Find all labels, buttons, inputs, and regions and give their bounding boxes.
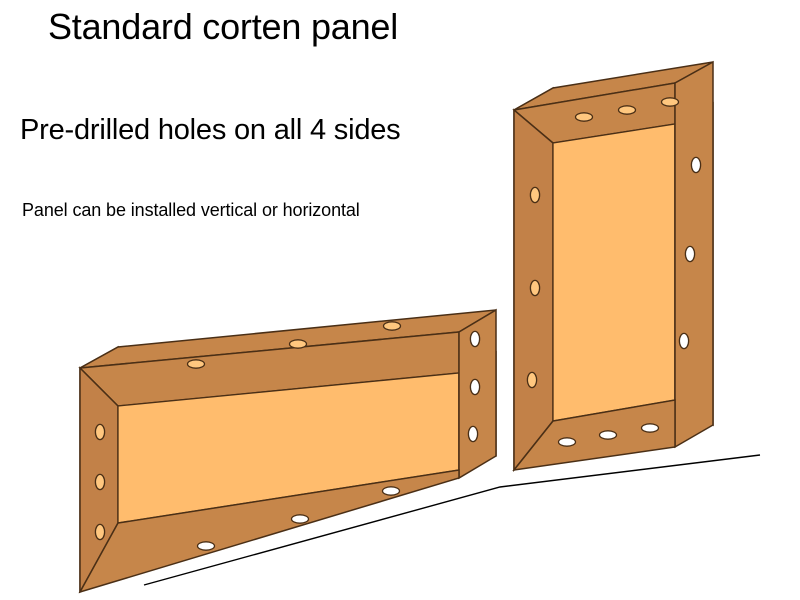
hole [662, 98, 679, 106]
vertical-panel-inner-face [553, 124, 675, 421]
hole [691, 157, 700, 172]
hole [290, 340, 307, 348]
slide-canvas: Standard corten panel Pre-drilled holes … [0, 0, 800, 600]
hole [559, 438, 576, 446]
panel-illustration [0, 0, 800, 600]
hole [95, 524, 104, 539]
hole [470, 379, 479, 394]
hole [198, 542, 215, 550]
hole [530, 280, 539, 295]
hole [527, 372, 536, 387]
horizontal-panel [80, 310, 496, 592]
hole [642, 424, 659, 432]
hole [685, 246, 694, 261]
hole [619, 106, 636, 114]
hole [188, 360, 205, 368]
hole [470, 331, 479, 346]
hole [95, 474, 104, 489]
hole [384, 322, 401, 330]
hole [383, 487, 400, 495]
hole [600, 431, 617, 439]
hole [679, 333, 688, 348]
vertical-panel [514, 62, 713, 470]
hole [95, 424, 104, 439]
hole [468, 426, 477, 441]
hole [576, 113, 593, 121]
hole [292, 515, 309, 523]
hole [530, 187, 539, 202]
